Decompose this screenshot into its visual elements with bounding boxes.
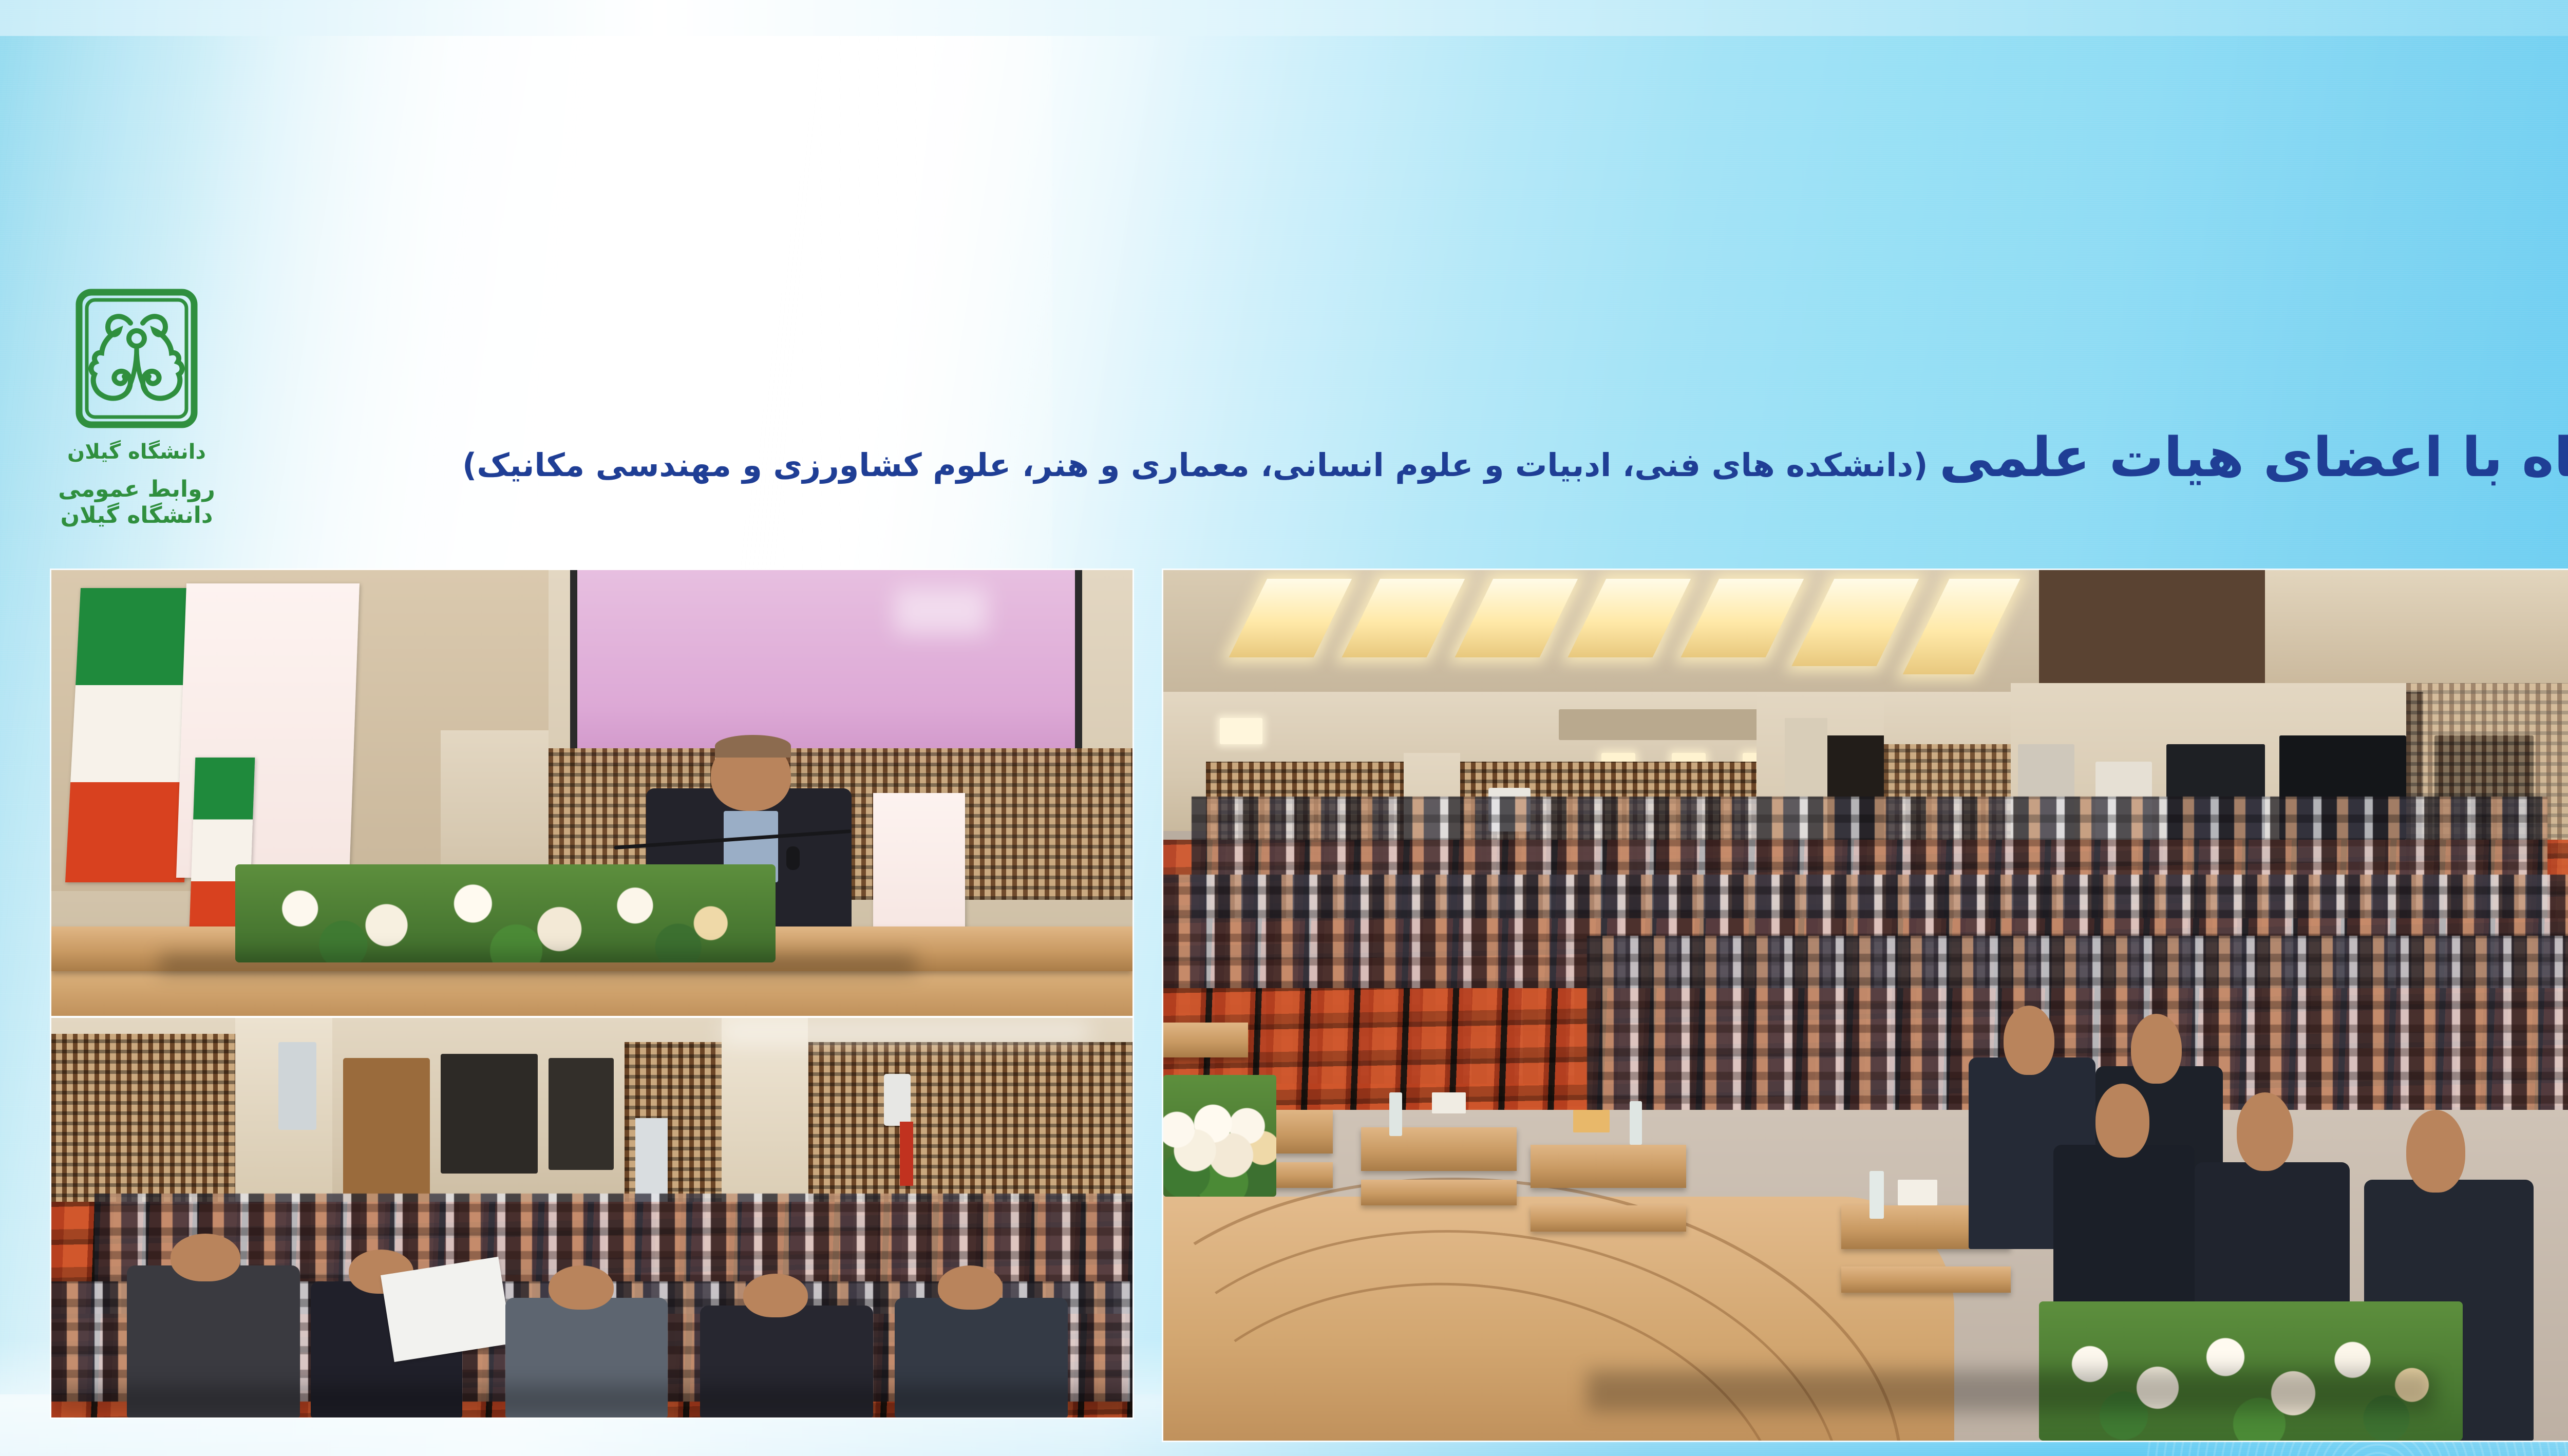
scene-audience-left bbox=[51, 1018, 1132, 1417]
photo-top-left bbox=[51, 570, 1132, 1016]
background-top-band bbox=[0, 0, 2568, 36]
university-logo-block: دانشگاه گیلان روابط عمومی دانشگاه گیلان bbox=[49, 285, 224, 528]
university-of-guilan-emblem-icon bbox=[70, 285, 203, 439]
scene-podium-speaker bbox=[51, 570, 1132, 1016]
poster-title: نشست هم اندیشی رئیس دانشگاه با اعضای هیا… bbox=[462, 430, 2568, 523]
public-relations-label: روابط عمومی دانشگاه گیلان bbox=[49, 476, 224, 528]
photo-center bbox=[1163, 570, 2568, 1441]
logo-script-label: دانشگاه گیلان bbox=[49, 440, 224, 464]
title-subtitle-text: (دانشکده های فنی، ادبیات و علوم انسانی، … bbox=[462, 449, 1928, 481]
poster-canvas: دانشگاه گیلان روابط عمومی دانشگاه گیلان … bbox=[0, 0, 2568, 1456]
title-main-text: نشست هم اندیشی رئیس دانشگاه با اعضای هیا… bbox=[1939, 430, 2568, 485]
photo-bottom-left bbox=[51, 1018, 1132, 1417]
scene-hall-wide bbox=[1163, 570, 2568, 1441]
